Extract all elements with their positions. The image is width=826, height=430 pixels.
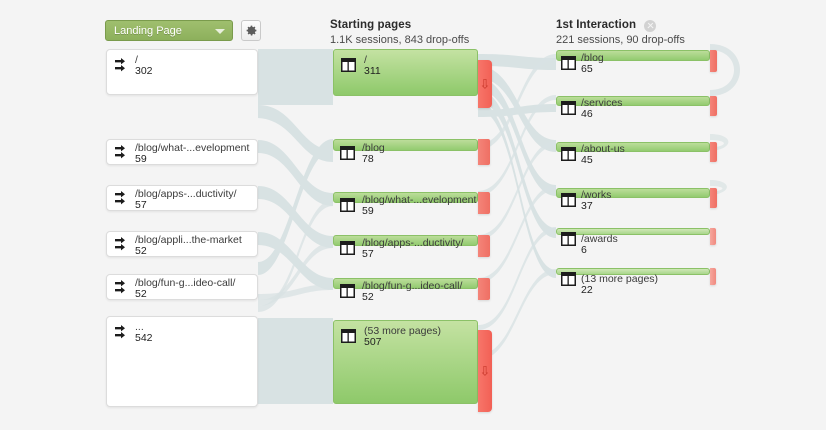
dropoff-bar-interaction-about-us[interactable] [710,142,717,162]
behavior-flow-canvas: Landing Page Starting pages 1.1K session… [0,0,826,430]
landing-node-label: /blog/fun-g...ideo-call/ [135,277,235,289]
starting-node-value: 507 [364,336,382,348]
double-arrow-icon [114,237,131,258]
starting-node-more-pages[interactable]: (53 more pages) 507 [333,320,478,404]
dropoff-bar-starting-blog[interactable] [478,139,490,165]
interaction-node-value: 46 [581,108,593,120]
interaction-node-works[interactable] [556,188,710,198]
interaction-node-value: 45 [581,154,593,166]
interaction-node-value: 65 [581,63,593,75]
starting-node-value: 311 [364,65,381,77]
page-icon [340,241,355,260]
dropoff-bar-starting-root[interactable]: ⇩ [478,60,492,108]
interaction-node-value: 22 [581,284,593,296]
starting-node-label: /blog/apps-...ductivity/ [362,237,464,249]
landing-node-label: /blog/appli...the-market [135,234,242,246]
page-icon [561,56,576,75]
page-icon [341,329,356,348]
landing-node-value: 302 [135,65,153,77]
dropoff-bar-starting-blog-fun[interactable] [478,278,490,300]
page-icon [340,284,355,303]
landing-node-label: /blog/apps-...ductivity/ [135,188,237,200]
interaction-node-about-us[interactable] [556,142,710,152]
double-arrow-icon [114,325,131,346]
starting-node-value: 78 [362,153,374,165]
dropoff-bar-starting-blog-what[interactable] [478,192,490,214]
interaction-node-value: 37 [581,200,593,212]
double-arrow-icon [114,191,131,212]
page-icon [561,147,576,166]
landing-node-root[interactable]: / 302 [106,49,258,95]
dropoff-bar-interaction-more-pages[interactable] [710,268,716,285]
page-icon [561,193,576,212]
double-arrow-icon [114,145,131,166]
page-icon [340,146,355,165]
starting-node-value: 59 [362,205,374,217]
landing-node-value: 59 [135,153,147,165]
landing-node-blog-appli[interactable]: /blog/appli...the-market 52 [106,231,258,257]
interaction-node-awards[interactable] [556,228,710,235]
landing-node-blog-fun[interactable]: /blog/fun-g...ideo-call/ 52 [106,274,258,300]
dropoff-arrow-icon: ⇩ [480,365,491,378]
page-icon [561,101,576,120]
landing-node-value: 542 [135,332,153,344]
landing-node-blog-what[interactable]: /blog/what-...evelopment 59 [106,139,258,165]
page-icon [340,198,355,217]
landing-node-value: 52 [135,288,147,300]
page-icon [561,232,576,251]
landing-node-label: /blog/what-...evelopment [135,142,249,154]
starting-node-root[interactable]: / 311 [333,49,478,96]
landing-node-value: 52 [135,245,147,257]
dropoff-bar-interaction-awards[interactable] [710,228,716,245]
starting-node-label: /blog/fun-g...ideo-call/ [362,280,462,292]
double-arrow-icon [114,58,131,79]
dropoff-bar-interaction-works[interactable] [710,188,717,208]
landing-node-other[interactable]: ... 542 [106,316,258,407]
dropoff-bar-starting-blog-apps[interactable] [478,235,490,257]
starting-node-label: /blog/what-...evelopment [362,194,476,206]
interaction-node-blog[interactable] [556,50,710,61]
landing-node-value: 57 [135,199,147,211]
dropoff-bar-interaction-services[interactable] [710,96,717,116]
dropoff-bar-interaction-blog[interactable] [710,50,717,72]
dropoff-bar-starting-more-pages[interactable]: ⇩ [478,330,492,412]
dropoff-arrow-icon: ⇩ [480,78,491,91]
page-icon [341,58,356,77]
starting-node-value: 57 [362,248,374,260]
interaction-node-value: 6 [581,244,587,256]
starting-node-value: 52 [362,291,374,303]
page-icon [561,272,576,291]
interaction-node-services[interactable] [556,96,710,106]
landing-node-blog-apps[interactable]: /blog/apps-...ductivity/ 57 [106,185,258,211]
double-arrow-icon [114,280,131,301]
